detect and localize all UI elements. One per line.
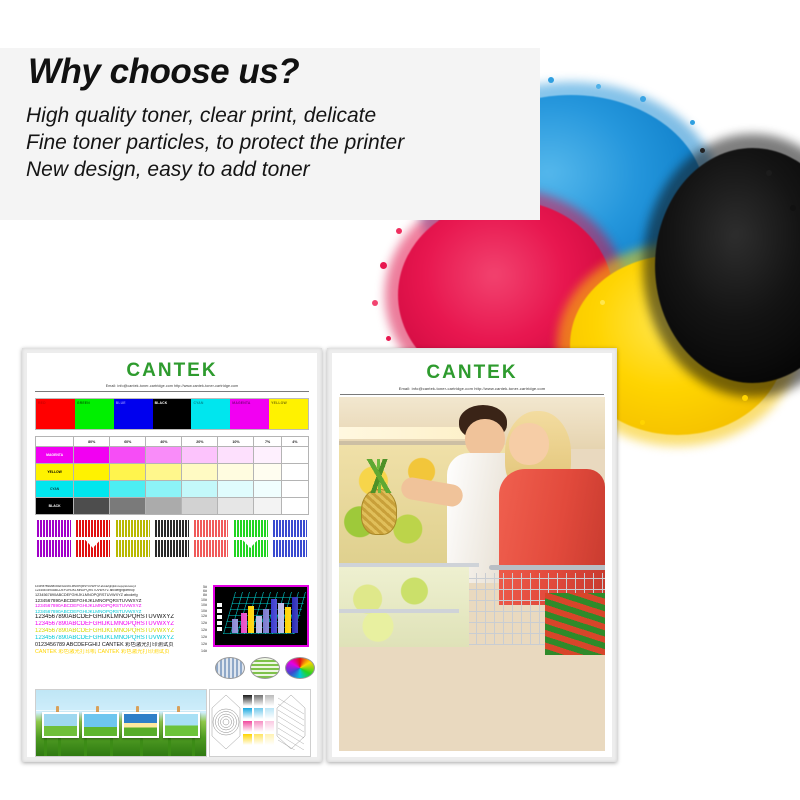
tint-cell xyxy=(254,481,281,498)
tint-cell xyxy=(182,481,218,498)
tint-row-label: YELLOW xyxy=(36,464,74,481)
color-swatch-yellow: YELLOW xyxy=(269,399,308,429)
color-swatch-black: BLACK xyxy=(153,399,192,429)
tint-cell xyxy=(74,464,110,481)
font-test-line: 12#1234567890ABCDEFGHIJKLMNOPQRSTUVWXYZ xyxy=(35,621,207,628)
cmyk-gradient-swatch xyxy=(265,721,274,732)
chart-legend xyxy=(217,603,222,633)
headline-line-2: Fine toner particles, to protect the pri… xyxy=(26,131,404,155)
cmyk-gradient-swatch xyxy=(254,721,263,732)
tint-row-magenta: MAGENTA xyxy=(36,447,309,464)
font-test-line: 12#1234567890ABCDEFGHIJKLMNOPQRSTUVWXYZ xyxy=(35,628,207,635)
color-swatch-blue: BLUE xyxy=(114,399,153,429)
tint-cell xyxy=(74,481,110,498)
right-shelf-produce xyxy=(545,593,605,655)
color-swatch-label: CYAN xyxy=(193,401,203,405)
tint-percent-header: 40% xyxy=(146,437,182,447)
tint-cell xyxy=(182,447,218,464)
resolution-pattern-box xyxy=(209,689,311,757)
stripe-salmon xyxy=(194,540,228,557)
tint-cell xyxy=(110,481,146,498)
powder-speckle xyxy=(790,205,796,211)
ellipse-pattern-group xyxy=(215,657,315,679)
cmyk-gradient-swatch xyxy=(243,734,252,745)
tint-percent-header: 7% xyxy=(254,437,281,447)
tint-row-label: CYAN xyxy=(36,481,74,498)
tint-cell xyxy=(182,464,218,481)
color-swatch-label: BLUE xyxy=(116,401,126,405)
stripe-row-top xyxy=(37,520,307,537)
cmyk-gradient-swatch xyxy=(243,695,252,706)
header-rule-left xyxy=(35,391,309,392)
stripe-green xyxy=(234,520,268,537)
color-swatch-label: GREEN xyxy=(77,401,90,405)
cmyk-gradient-swatch xyxy=(243,708,252,719)
powder-speckle xyxy=(640,96,646,102)
tint-cell xyxy=(182,498,218,515)
contact-line-right: Email: info@cantek-toner-cartridge.com h… xyxy=(332,386,612,391)
stripe-magenta xyxy=(37,520,71,537)
tint-percent-header: 4% xyxy=(281,437,308,447)
color-swatch-label: RED xyxy=(38,401,46,405)
stripe-gray xyxy=(155,540,189,557)
stripe-magenta xyxy=(37,540,71,557)
chart-bar xyxy=(285,607,291,633)
shelf-rail xyxy=(339,609,459,613)
tint-percent-header: 20% xyxy=(182,437,218,447)
font-size-marker: 12# xyxy=(201,628,207,632)
tint-cell xyxy=(254,498,281,515)
tint-cell xyxy=(146,498,182,515)
tint-cell xyxy=(254,464,281,481)
3d-bar-chart xyxy=(213,585,309,647)
tint-cell xyxy=(74,498,110,515)
hanging-photo xyxy=(163,712,200,738)
tint-percent-header: 10% xyxy=(218,437,254,447)
stripe-blue xyxy=(273,520,307,537)
color-swatch-label: MAGENTA xyxy=(232,401,250,405)
tint-cell xyxy=(218,447,254,464)
color-swatch-green: GREEN xyxy=(75,399,114,429)
hanging-photo xyxy=(82,712,119,738)
tint-cell xyxy=(281,464,308,481)
powder-speckle xyxy=(700,148,705,153)
cmyk-gradient-swatch xyxy=(265,708,274,719)
tint-cell xyxy=(281,447,308,464)
color-swatch-label: YELLOW xyxy=(271,401,287,405)
headline-band: Why choose us? High quality toner, clear… xyxy=(0,48,540,220)
product-marketing-image: Why choose us? High quality toner, clear… xyxy=(0,0,800,800)
tint-cell xyxy=(146,464,182,481)
font-size-marker: 10# xyxy=(201,603,207,607)
powder-speckle xyxy=(766,170,772,176)
chart-bar xyxy=(278,603,284,633)
tint-percent-header: 60% xyxy=(110,437,146,447)
powder-speckle xyxy=(380,262,387,269)
tint-cell xyxy=(74,447,110,464)
color-swatch-label: BLACK xyxy=(155,401,168,405)
font-size-marker: 10# xyxy=(201,609,207,613)
left-sheet: CANTEK Email: info@cantek-toner-cartridg… xyxy=(27,353,317,757)
headline-line-3: New design, easy to add toner xyxy=(26,158,310,182)
color-swatch-red: RED xyxy=(36,399,75,429)
photo-wire xyxy=(36,710,206,711)
tint-grid-corner xyxy=(36,437,74,447)
chart-bar xyxy=(263,609,269,633)
pineapple-leaves xyxy=(355,459,403,493)
cmyk-gradient-swatch xyxy=(254,695,263,706)
hanging-photo xyxy=(122,712,159,738)
ellipse-horizontal-stripes xyxy=(250,657,280,679)
font-test-line: 12#1234567890ABCDEFGHIJKLMNOPQRSTUVWXYZ xyxy=(35,635,207,642)
powder-speckle xyxy=(386,336,391,341)
cmyk-gradient-swatch xyxy=(254,708,263,719)
headline-line-1: High quality toner, clear print, delicat… xyxy=(26,104,376,128)
chart-bar xyxy=(241,613,247,633)
powder-speckle xyxy=(548,77,554,83)
font-test-line: 14#CANTEK 彩色激光打印机 CANTEK 彩色激光打印测试页 xyxy=(35,649,207,655)
tint-grid-header-row: 80%60%40%20%10%7%4% xyxy=(36,437,309,447)
left-test-page: CANTEK Email: info@cantek-toner-cartridg… xyxy=(22,348,322,762)
tint-percentage-grid: 80%60%40%20%10%7%4%MAGENTAYELLOWCYANBLAC… xyxy=(35,436,309,515)
couple-shopping-photo xyxy=(339,397,605,751)
pineapple xyxy=(361,489,397,535)
page-title: Why choose us? xyxy=(28,52,299,92)
tint-cell xyxy=(146,481,182,498)
cmyk-gradient-swatch xyxy=(254,734,263,745)
tint-cell xyxy=(254,447,281,464)
powder-speckle xyxy=(596,84,601,89)
tint-cell xyxy=(281,481,308,498)
cmyk-gradient-swatch xyxy=(265,695,274,706)
stripe-row-bottom xyxy=(37,540,307,557)
powder-speckle xyxy=(600,300,605,305)
tint-cell xyxy=(110,447,146,464)
chart-bar xyxy=(248,606,254,633)
spiral-hexagon-pattern xyxy=(211,694,241,750)
stripe-red xyxy=(76,540,110,557)
tint-row-cyan: CYAN xyxy=(36,481,309,498)
line-burst-svg xyxy=(276,694,306,750)
font-test-line: 12#1234567890ABCDEFGHIJKLMNOPQRSTUVWXYZ xyxy=(35,614,207,621)
tint-cell xyxy=(218,464,254,481)
font-size-marker: 14# xyxy=(201,649,207,653)
powder-speckle xyxy=(396,228,402,234)
font-size-marker: 12# xyxy=(201,635,207,639)
tint-cell xyxy=(146,447,182,464)
hanging-photos-grass-image xyxy=(35,689,207,757)
brand-logo-right: CANTEK xyxy=(332,362,612,384)
shelf-rail xyxy=(339,563,479,567)
tint-cell xyxy=(281,498,308,515)
stripe-green xyxy=(234,540,268,557)
color-swatch-row: REDGREENBLUEBLACKCYANMAGENTAYELLOW xyxy=(35,398,309,430)
ellipse-color-wheel xyxy=(285,657,315,679)
powder-speckle xyxy=(640,420,645,425)
powder-speckle xyxy=(690,120,695,125)
cmyk-gradient-grid xyxy=(243,695,274,745)
cart-handle xyxy=(489,565,605,570)
tint-cell xyxy=(218,481,254,498)
powder-speckle xyxy=(742,395,748,401)
powder-speckle xyxy=(372,300,378,306)
font-size-marker: 12# xyxy=(201,642,207,646)
font-size-marker: 12# xyxy=(201,614,207,618)
font-size-marker: 12# xyxy=(201,621,207,625)
chart-bar xyxy=(292,597,298,633)
chart-bar xyxy=(232,619,238,633)
stripe-olive xyxy=(116,520,150,537)
cmyk-gradient-swatch xyxy=(265,734,274,745)
stripe-salmon xyxy=(194,520,228,537)
woman-face xyxy=(509,423,549,465)
ellipse-vertical-stripes xyxy=(215,657,245,679)
spiral-hexagon-svg xyxy=(211,694,241,750)
tint-cell xyxy=(110,498,146,515)
chart-bar xyxy=(271,599,277,633)
tint-row-black: BLACK xyxy=(36,498,309,515)
tint-percent-header: 80% xyxy=(74,437,110,447)
brand-logo-left: CANTEK xyxy=(27,360,317,382)
cooler-light xyxy=(339,427,479,439)
line-burst-hexagon-pattern xyxy=(276,694,306,750)
hanging-photo xyxy=(42,712,79,738)
font-size-marker: 10# xyxy=(201,598,207,602)
contact-line-left: Email: info@cantek-toner-cartridge.com h… xyxy=(27,384,317,388)
right-sheet: CANTEK Email: info@cantek-toner-cartridg… xyxy=(332,353,612,757)
lower-shelf-produce xyxy=(339,567,469,647)
stripe-notch xyxy=(243,540,258,548)
stripe-blue xyxy=(273,540,307,557)
stripe-test-blocks xyxy=(37,520,307,557)
header-rule-right xyxy=(340,394,604,395)
tint-row-label: MAGENTA xyxy=(36,447,74,464)
stripe-olive xyxy=(116,540,150,557)
color-swatch-cyan: CYAN xyxy=(191,399,230,429)
stripe-gray xyxy=(155,520,189,537)
stripe-red xyxy=(76,520,110,537)
font-test-lines: 5#1234567890ABCDEFGHIJKLMNOPQRSTUVWXYZ a… xyxy=(35,585,207,655)
tint-row-yellow: YELLOW xyxy=(36,464,309,481)
tint-cell xyxy=(110,464,146,481)
right-test-page: CANTEK Email: info@cantek-toner-cartridg… xyxy=(327,348,617,762)
cmyk-gradient-swatch xyxy=(243,721,252,732)
stripe-notch xyxy=(85,540,100,548)
black-toner-pile xyxy=(655,148,800,383)
tint-cell xyxy=(218,498,254,515)
color-swatch-magenta: MAGENTA xyxy=(230,399,269,429)
chart-bar xyxy=(256,616,262,633)
tint-row-label: BLACK xyxy=(36,498,74,515)
